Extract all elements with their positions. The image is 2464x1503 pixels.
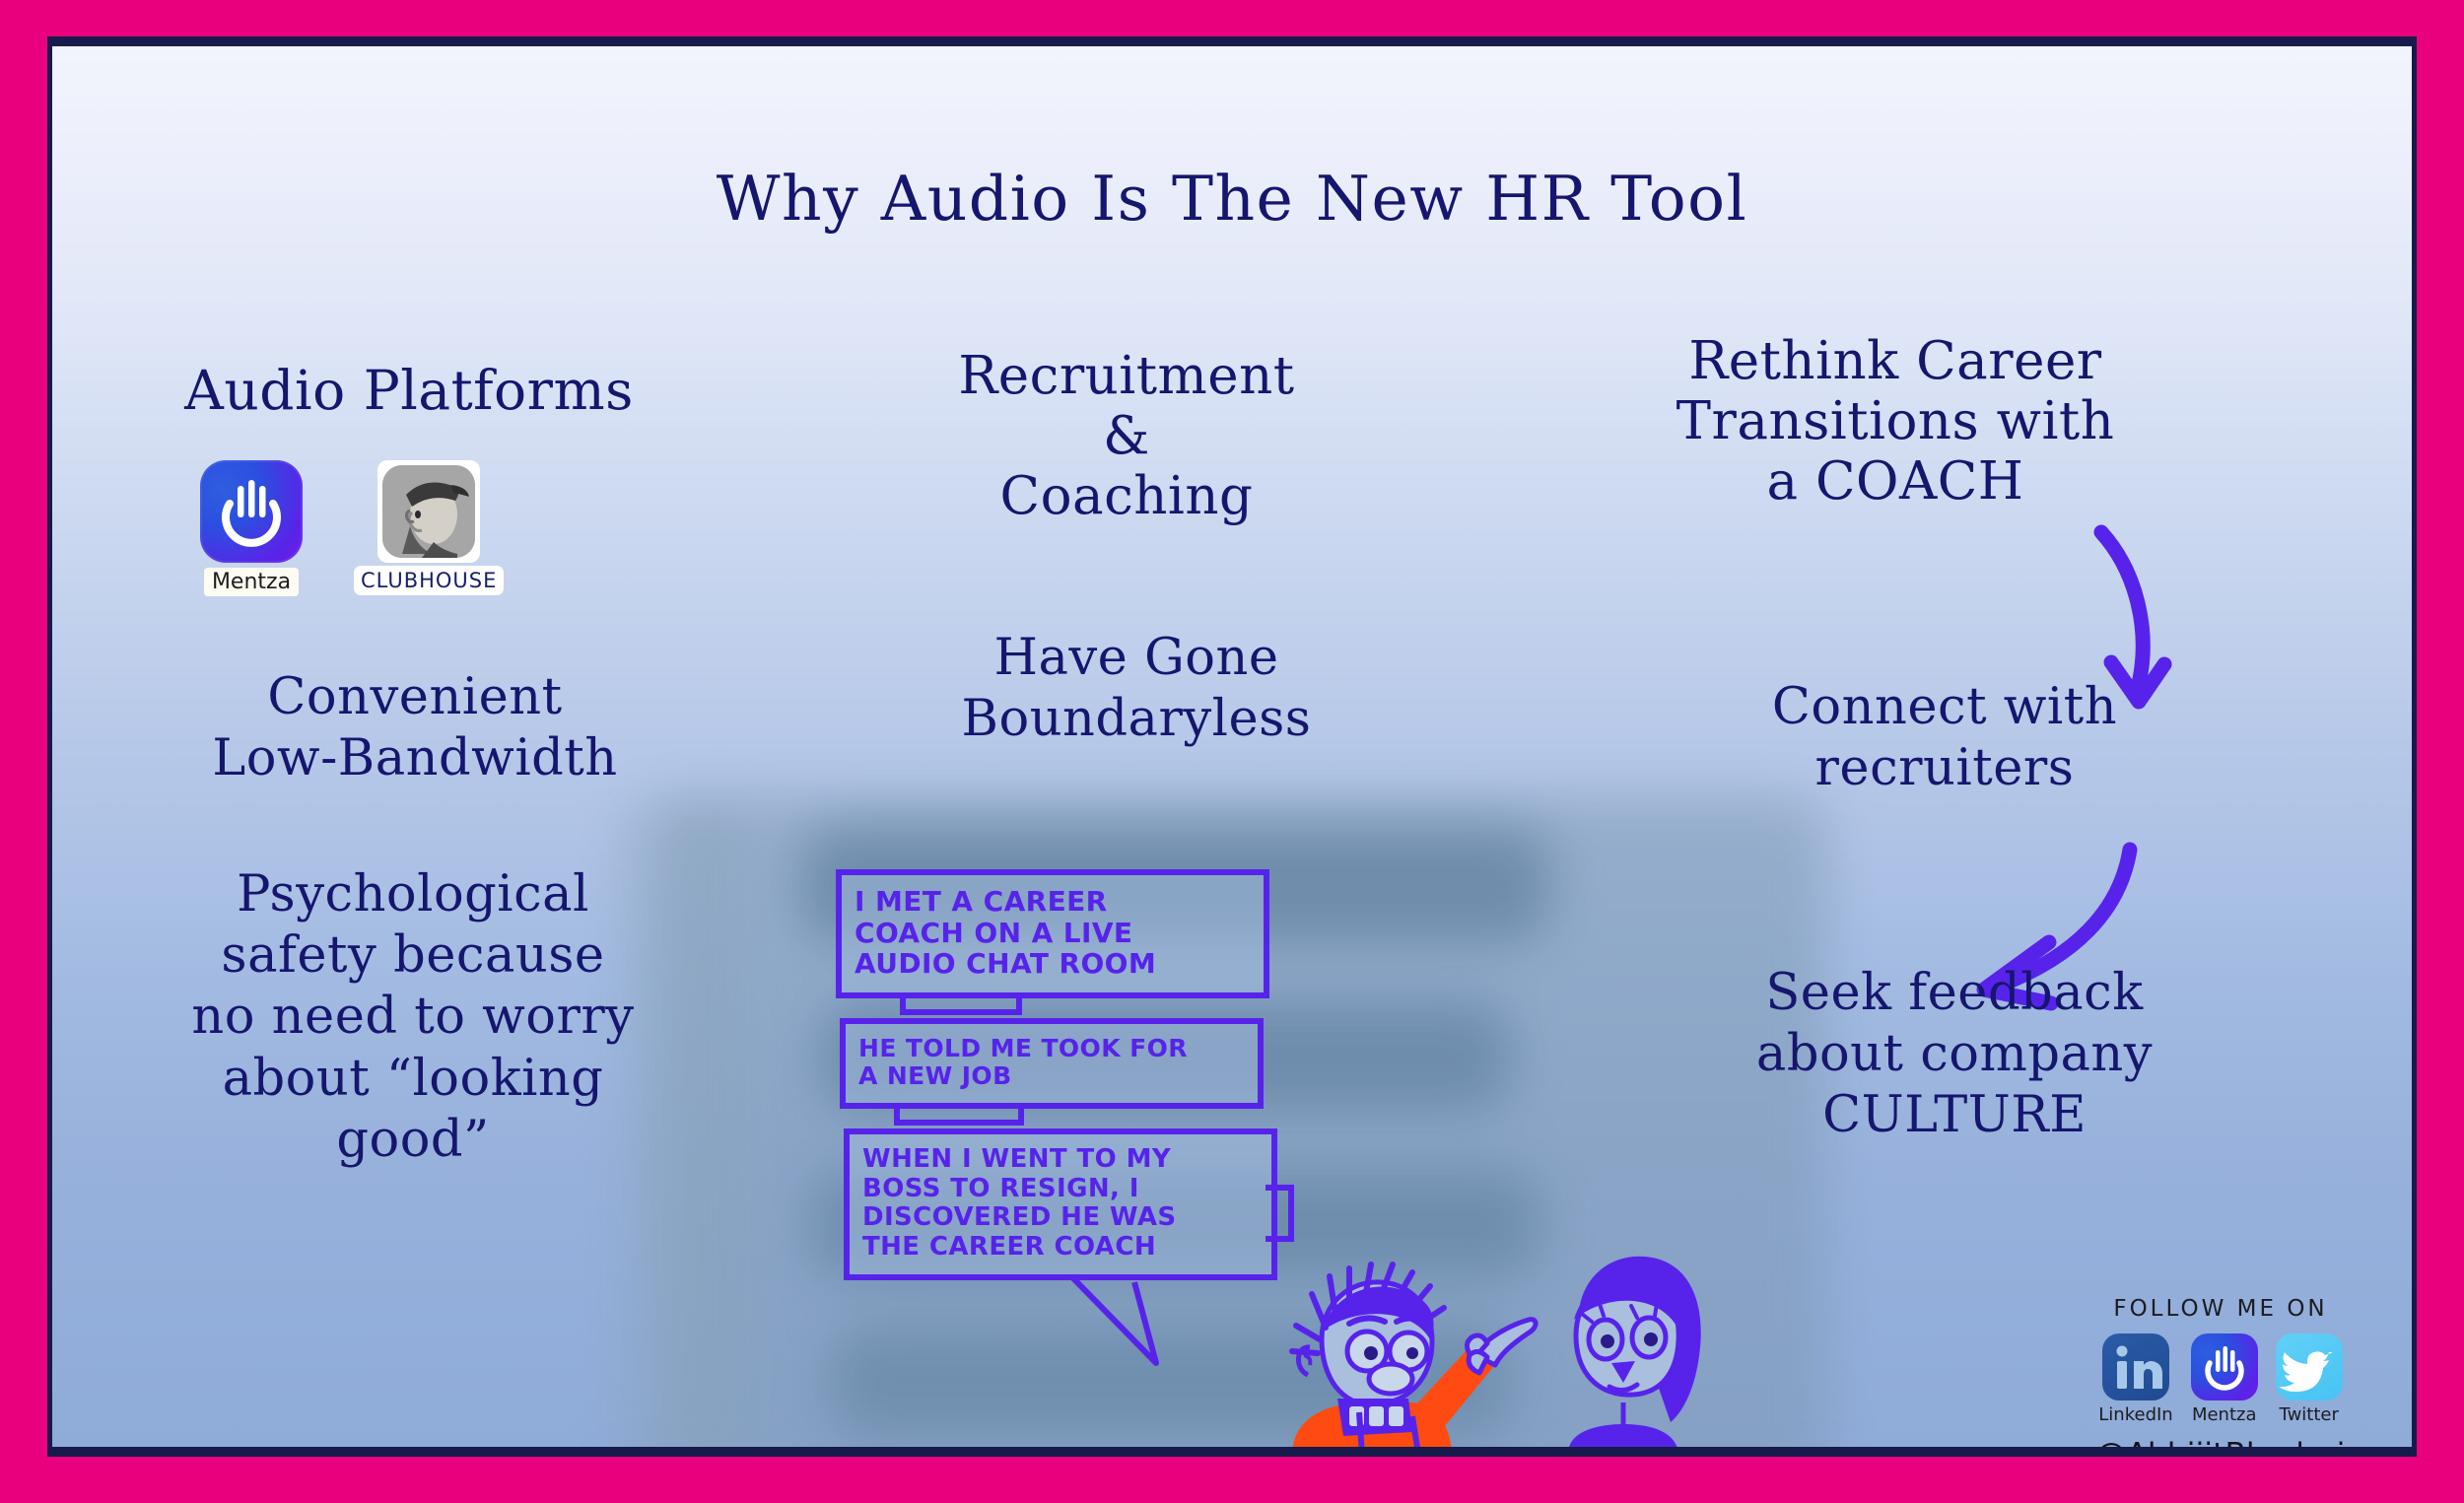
feedback-line-3: CULTURE xyxy=(1649,1085,2260,1146)
mentza-app-icon xyxy=(200,460,303,563)
mentza-social-label: Mentza xyxy=(2192,1404,2257,1425)
frame-bottom-divider xyxy=(47,1452,2417,1457)
speech-bubble-3: WHEN I WENT TO MY BOSS TO RESIGN, I DISC… xyxy=(844,1128,1277,1280)
right-step-connect-recruiters: Connect with recruiters xyxy=(1649,677,2240,799)
bubble-3-line-3: DISCOVERED HE WAS xyxy=(862,1203,1259,1232)
bubble-1-line-3: AUDIO CHAT ROOM xyxy=(855,948,1251,980)
psych-line-1: Psychological xyxy=(88,864,738,925)
left-point-convenient: Convenient Low-Bandwidth xyxy=(100,667,730,789)
social-linkedin[interactable]: LinkedIn xyxy=(2098,1333,2172,1425)
middle-heading-line-2: & xyxy=(831,407,1422,467)
poster-canvas: Why Audio Is The New HR Tool Audio Platf… xyxy=(47,41,2417,1452)
clubhouse-portrait-icon xyxy=(382,465,475,558)
left-point-convenient-line-2: Low-Bandwidth xyxy=(100,728,730,789)
app-mentza[interactable]: Mentza xyxy=(200,460,303,596)
right-step-seek-feedback: Seek feedback about company CULTURE xyxy=(1649,963,2260,1147)
social-icons-row: LinkedIn Mentza xyxy=(2078,1333,2363,1425)
bubble-3-line-2: BOSS TO RESIGN, I xyxy=(862,1175,1259,1203)
audio-platform-logos: Mentza xyxy=(200,460,504,596)
mentza-power-hand-icon xyxy=(200,460,303,563)
speech-bubble-1: I MET A CAREER COACH ON A LIVE AUDIO CHA… xyxy=(836,869,1269,998)
left-column-heading: Audio Platforms xyxy=(113,360,705,422)
psych-line-2: safety because xyxy=(88,925,738,987)
follow-label: FOLLOW ME ON xyxy=(2078,1296,2363,1322)
linkedin-label: LinkedIn xyxy=(2098,1404,2172,1425)
middle-sub-line-2: Boundaryless xyxy=(831,689,1442,750)
follow-section: FOLLOW ME ON LinkedIn xyxy=(2078,1296,2363,1452)
left-point-psych-safety: Psychological safety because no need to … xyxy=(88,864,738,1171)
social-twitter[interactable]: Twitter xyxy=(2276,1333,2343,1425)
feedback-line-2: about company xyxy=(1649,1024,2260,1085)
infographic-poster: Why Audio Is The New HR Tool Audio Platf… xyxy=(0,0,2464,1503)
speech-bubble-2: HE TOLD ME TOOK FOR A NEW JOB xyxy=(840,1018,1264,1110)
psych-line-4: about “looking xyxy=(88,1049,738,1110)
middle-heading-line-1: Recruitment xyxy=(831,347,1422,407)
speech-bubble-group: I MET A CAREER COACH ON A LIVE AUDIO CHA… xyxy=(836,869,1299,1280)
psych-line-5: good” xyxy=(88,1110,738,1171)
author-handle: @AbhijitBhaduri xyxy=(2078,1437,2363,1452)
linkedin-icon xyxy=(2102,1333,2169,1401)
bubble-1-line-2: COACH ON A LIVE xyxy=(855,918,1251,949)
bubble-3-tail xyxy=(1061,1268,1249,1387)
psych-line-3: no need to worry xyxy=(88,987,738,1048)
twitter-bird-icon xyxy=(2276,1333,2343,1401)
app-clubhouse[interactable]: CLUBHOUSE xyxy=(354,460,504,595)
bubble-1-line-1: I MET A CAREER xyxy=(855,886,1251,918)
right-heading-line-1: Rethink Career xyxy=(1570,332,2221,392)
bubble-2-line-1: HE TOLD ME TOOK FOR xyxy=(858,1035,1245,1062)
woman-listening xyxy=(1562,1257,1701,1452)
bubble-3-line-4: THE CAREER COACH xyxy=(862,1233,1259,1262)
middle-column-subheading: Have Gone Boundaryless xyxy=(831,628,1442,750)
middle-heading-line-3: Coaching xyxy=(831,467,1422,527)
connect-line-2: recruiters xyxy=(1649,738,2240,799)
feedback-line-1: Seek feedback xyxy=(1649,963,2260,1024)
connect-line-1: Connect with xyxy=(1649,677,2240,738)
clubhouse-label: CLUBHOUSE xyxy=(354,566,504,595)
bubble-3-line-1: WHEN I WENT TO MY xyxy=(862,1145,1259,1174)
social-mentza[interactable]: Mentza xyxy=(2191,1333,2258,1425)
right-column-heading: Rethink Career Transitions with a COACH xyxy=(1570,332,2221,512)
middle-column-heading: Recruitment & Coaching xyxy=(831,347,1422,527)
left-point-convenient-line-1: Convenient xyxy=(100,667,730,728)
clubhouse-app-icon xyxy=(377,460,480,563)
bubble-2-connector xyxy=(893,1103,1031,1128)
right-heading-line-3: a COACH xyxy=(1570,452,2221,512)
page-title: Why Audio Is The New HR Tool xyxy=(52,163,2412,235)
bubble-1-connector xyxy=(899,992,1027,1018)
man-pointing-up xyxy=(1286,1264,1536,1452)
right-heading-line-2: Transitions with xyxy=(1570,392,2221,452)
bubble-2-line-2: A NEW JOB xyxy=(858,1062,1245,1090)
middle-sub-line-1: Have Gone xyxy=(831,628,1442,689)
mentza-icon xyxy=(2191,1333,2258,1401)
cartoon-figures xyxy=(1265,1229,1777,1452)
mentza-label: Mentza xyxy=(204,568,299,596)
twitter-label: Twitter xyxy=(2280,1404,2339,1425)
